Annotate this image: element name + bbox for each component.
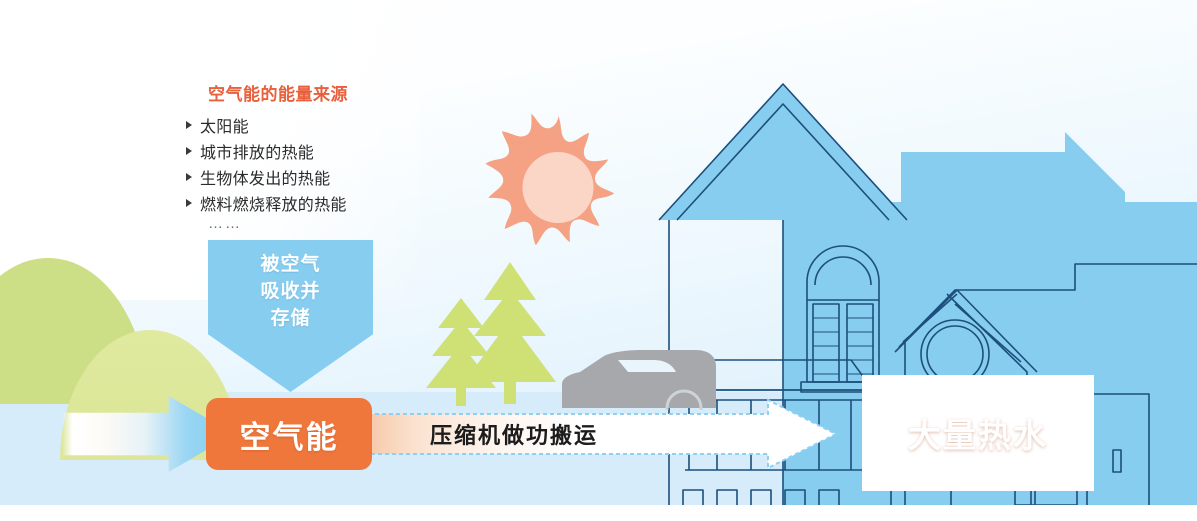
hot-water-badge: 大量热水 [862,375,1094,491]
list-ellipsis: …… [208,217,446,231]
energy-source-panel: 空气能的能量来源 太阳能 城市排放的热能 生物体发出的热能 燃料燃烧释放的热能 … [186,80,446,231]
tree-icon-large [462,262,558,409]
list-item-label: 生物体发出的热能 [200,165,330,189]
sun-icon [484,112,632,260]
triangle-bullet-icon [186,173,192,181]
panel-title: 空气能的能量来源 [208,80,446,105]
air-energy-label: 空气能 [240,412,339,457]
absorption-arrow-line-3: 存储 [270,306,310,333]
air-energy-badge: 空气能 [206,398,372,470]
bottom-white-strip [0,505,1197,521]
energy-source-list: 太阳能 城市排放的热能 生物体发出的热能 燃料燃烧释放的热能 [186,113,446,215]
list-item-label: 太阳能 [200,113,249,137]
triangle-bullet-icon [186,199,192,207]
hot-water-label: 大量热水 [908,409,1048,457]
triangle-bullet-icon [186,121,192,129]
hot-water-gradient: 大量热水 [867,380,1089,486]
list-item: 城市排放的热能 [186,139,446,163]
list-item: 生物体发出的热能 [186,165,446,189]
list-item: 太阳能 [186,113,446,137]
infographic-canvas: 空气能的能量来源 太阳能 城市排放的热能 生物体发出的热能 燃料燃烧释放的热能 … [0,0,1197,521]
list-item-label: 城市排放的热能 [200,139,314,163]
absorption-arrow-line-2: 吸收并 [260,279,320,306]
list-item-label: 燃料燃烧释放的热能 [200,191,347,215]
absorption-arrow-line-1: 被空气 [260,252,320,279]
list-item: 燃料燃烧释放的热能 [186,191,446,215]
process-label: 压缩机做功搬运 [430,418,598,450]
triangle-bullet-icon [186,147,192,155]
